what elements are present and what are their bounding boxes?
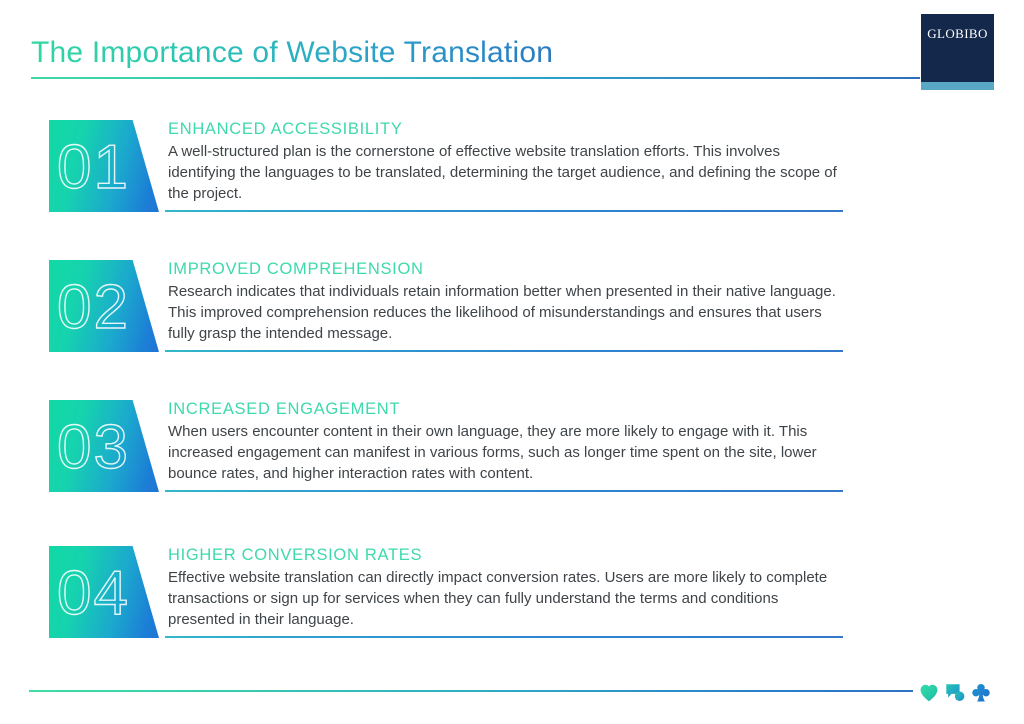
item-heading: IMPROVED COMPREHENSION xyxy=(168,260,840,279)
slide-header: The Importance of Website Translation xyxy=(0,0,1024,100)
item-description: A well-structured plan is the cornerston… xyxy=(168,142,840,204)
item-body: INCREASED ENGAGEMENT When users encounte… xyxy=(168,400,840,484)
logo-box: GLOBIBO xyxy=(921,14,994,82)
item-description: When users encounter content in their ow… xyxy=(168,422,840,484)
footer-icon-group xyxy=(918,680,998,706)
number-badge: 02 xyxy=(49,260,159,352)
slide-canvas: The Importance of Website Translation GL… xyxy=(0,0,1024,724)
number-badge: 03 xyxy=(49,400,159,492)
club-icon xyxy=(970,682,992,704)
logo-accent-bar xyxy=(921,82,994,90)
item-description: Research indicates that individuals reta… xyxy=(168,282,840,344)
footer-divider xyxy=(29,690,913,692)
heart-icon xyxy=(918,682,940,704)
number-badge: 04 xyxy=(49,546,159,638)
item-underline xyxy=(165,210,843,212)
item-heading: INCREASED ENGAGEMENT xyxy=(168,400,840,419)
number-badge: 01 xyxy=(49,120,159,212)
item-description: Effective website translation can direct… xyxy=(168,568,840,630)
item-body: IMPROVED COMPREHENSION Research indicate… xyxy=(168,260,840,344)
item-heading: ENHANCED ACCESSIBILITY xyxy=(168,120,840,139)
page-title: The Importance of Website Translation xyxy=(31,36,553,70)
number-label: 03 xyxy=(57,402,130,494)
number-label: 02 xyxy=(57,262,130,354)
brand-logo: GLOBIBO xyxy=(921,14,994,90)
item-body: HIGHER CONVERSION RATES Effective websit… xyxy=(168,546,840,630)
number-label: 04 xyxy=(57,548,130,640)
number-label: 01 xyxy=(57,122,130,214)
logo-wordmark: GLOBIBO xyxy=(927,26,988,42)
item-underline xyxy=(165,636,843,638)
item-heading: HIGHER CONVERSION RATES xyxy=(168,546,840,565)
item-underline xyxy=(165,350,843,352)
header-divider xyxy=(31,77,920,79)
chat-bubble-icon xyxy=(944,682,966,704)
item-underline xyxy=(165,490,843,492)
item-body: ENHANCED ACCESSIBILITY A well-structured… xyxy=(168,120,840,204)
